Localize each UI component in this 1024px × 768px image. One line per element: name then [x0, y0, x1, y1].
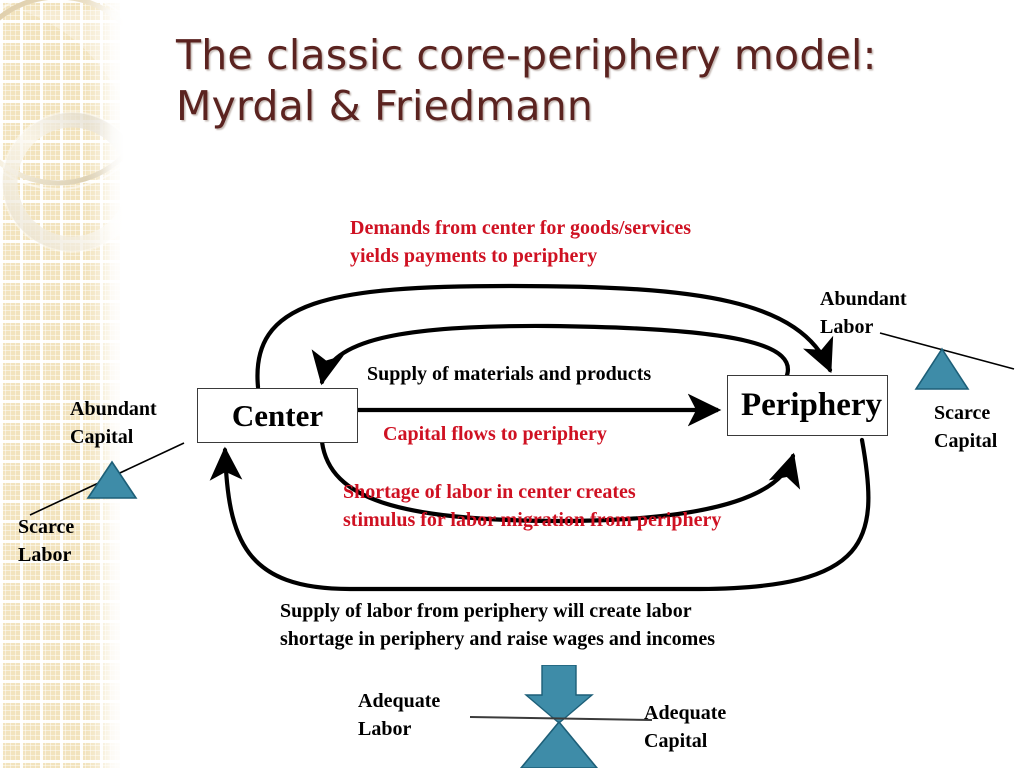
down-arrow-icon: [526, 665, 592, 723]
scale-equilibrium-left-line1: Adequate: [358, 687, 440, 715]
flow-label-supply-materials: Supply of materials and products: [367, 360, 651, 388]
scale-equilibrium-right-line2: Capital: [644, 727, 726, 755]
scale-center-down-line1: Scarce: [18, 513, 74, 541]
scale-equilibrium-right-line1: Adequate: [644, 699, 726, 727]
scale-center-down-label: Scarce Labor: [18, 513, 74, 570]
scale-center-up-line2: Capital: [70, 423, 157, 451]
flow-label-demands-line1: Demands from center for goods/services: [350, 214, 691, 242]
flow-label-demands-line2: yields payments to periphery: [350, 242, 691, 270]
flow-label-capital-flows-line1: Capital flows to periphery: [383, 420, 607, 448]
scale-periphery-down-line2: Capital: [934, 427, 997, 455]
node-center[interactable]: Center: [197, 388, 358, 443]
balance-scale-equilibrium: Adequate Labor Adequate Capital: [352, 665, 772, 768]
fulcrum-triangle-icon: [521, 722, 597, 768]
scale-equilibrium-left-label: Adequate Labor: [358, 687, 440, 744]
flow-label-shortage-labor-line2: stimulus for labor migration from periph…: [343, 506, 721, 534]
scale-center-up-line1: Abundant: [70, 395, 157, 423]
scale-periphery-up-label: Abundant Labor: [820, 285, 907, 342]
fulcrum-triangle-icon: [88, 462, 136, 498]
scale-center-down-line2: Labor: [18, 541, 74, 569]
scale-center-up-label: Abundant Capital: [70, 395, 157, 452]
flow-label-supply-labor-line2: shortage in periphery and raise wages an…: [280, 625, 715, 653]
flow-label-supply-labor: Supply of labor from periphery will crea…: [280, 597, 715, 654]
balance-scale-periphery: Abundant Labor Scarce Capital: [818, 285, 1024, 475]
flow-label-supply-materials-line1: Supply of materials and products: [367, 360, 651, 388]
flow-label-capital-flows: Capital flows to periphery: [383, 420, 607, 448]
scale-periphery-up-line2: Labor: [820, 313, 907, 341]
flow-label-demands: Demands from center for goods/services y…: [350, 214, 691, 271]
balance-scale-center: Abundant Capital Scarce Labor: [18, 395, 208, 575]
scale-periphery-down-label: Scarce Capital: [934, 399, 997, 456]
flow-label-shortage-labor-line1: Shortage of labor in center creates: [343, 478, 721, 506]
scale-equilibrium-left-line2: Labor: [358, 715, 440, 743]
scale-equilibrium-right-label: Adequate Capital: [644, 699, 726, 756]
node-center-label: Center: [232, 398, 323, 434]
slide-canvas: The classic core-periphery model: Myrdal…: [0, 0, 1024, 768]
flow-label-shortage-labor: Shortage of labor in center creates stim…: [343, 478, 721, 535]
flow-label-supply-labor-line1: Supply of labor from periphery will crea…: [280, 597, 715, 625]
scale-periphery-up-line1: Abundant: [820, 285, 907, 313]
scale-periphery-down-line1: Scarce: [934, 399, 997, 427]
